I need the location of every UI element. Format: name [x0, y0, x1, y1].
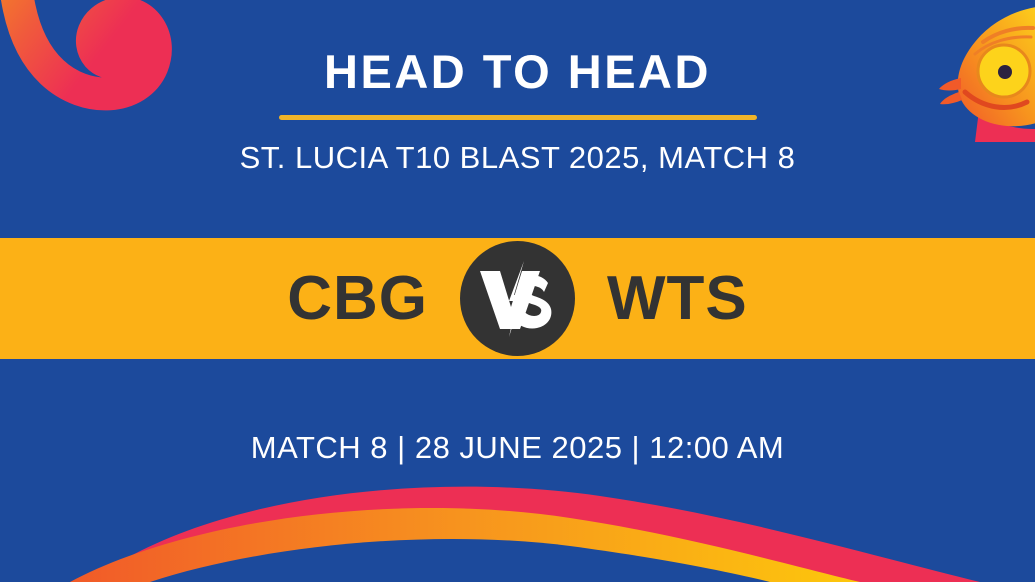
- home-team-code: CBG: [218, 268, 460, 330]
- title-divider: [279, 115, 757, 120]
- matchup-row: CBG WTS: [0, 238, 1035, 359]
- versus-badge: [460, 241, 575, 356]
- tournament-subtitle: ST. LUCIA T10 BLAST 2025, MATCH 8: [240, 142, 796, 173]
- page-title: HEAD TO HEAD: [324, 48, 711, 95]
- match-info-text: MATCH 8 | 28 JUNE 2025 | 12:00 AM: [251, 432, 784, 463]
- match-info-bar: MATCH 8 | 28 JUNE 2025 | 12:00 AM: [0, 359, 1035, 519]
- versus-icon: [478, 261, 558, 337]
- head-to-head-graphic: HEAD TO HEAD ST. LUCIA T10 BLAST 2025, M…: [0, 0, 1035, 582]
- header: HEAD TO HEAD ST. LUCIA T10 BLAST 2025, M…: [0, 0, 1035, 238]
- away-team-code: WTS: [575, 268, 817, 330]
